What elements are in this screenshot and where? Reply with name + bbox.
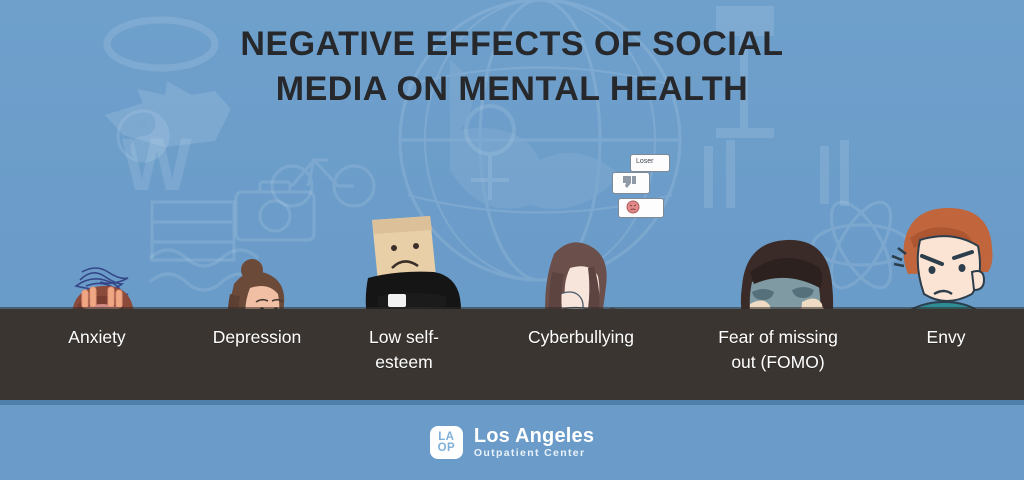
thumbs-down-icon (620, 175, 638, 194)
page-title: Negative effects of social media on ment… (0, 22, 1024, 112)
footer: LA OP Los Angeles Outpatient Center (0, 405, 1024, 480)
brand-name: Los Angeles (474, 426, 594, 446)
logo-mark-line-1: LA (438, 432, 454, 443)
label-cyberbullying: Cyberbullying (488, 325, 674, 350)
brand-tagline: Outpatient Center (474, 446, 594, 460)
label-fomo-line-1: Fear of missing (718, 327, 838, 347)
label-low-self-esteem-line-2: esteem (375, 352, 432, 372)
insult-bubble-text: Loser (636, 158, 654, 165)
label-depression: Depression (178, 325, 336, 350)
effect-labels: Anxiety Depression Low self- esteem Cybe… (0, 309, 1024, 400)
label-fomo: Fear of missing out (FOMO) (680, 325, 876, 375)
logo-mark-line-2: OP (438, 443, 455, 454)
angry-face-icon (626, 200, 640, 219)
label-low-self-esteem-line-1: Low self- (369, 327, 439, 347)
page-title-line-2: media on mental health (0, 67, 1024, 112)
label-low-self-esteem: Low self- esteem (328, 325, 480, 375)
label-anxiety: Anxiety (22, 325, 172, 350)
brand-logo[interactable]: LA OP Los Angeles Outpatient Center (0, 405, 1024, 480)
brand-wordmark: Los Angeles Outpatient Center (474, 426, 594, 460)
angry-face-bubble (618, 198, 664, 218)
label-fomo-line-2: out (FOMO) (731, 352, 824, 372)
label-envy: Envy (880, 325, 1012, 350)
laop-logo-mark: LA OP (430, 426, 463, 459)
page-title-line-1: Negative effects of social (240, 25, 783, 63)
infographic-poster: W (0, 0, 1024, 480)
